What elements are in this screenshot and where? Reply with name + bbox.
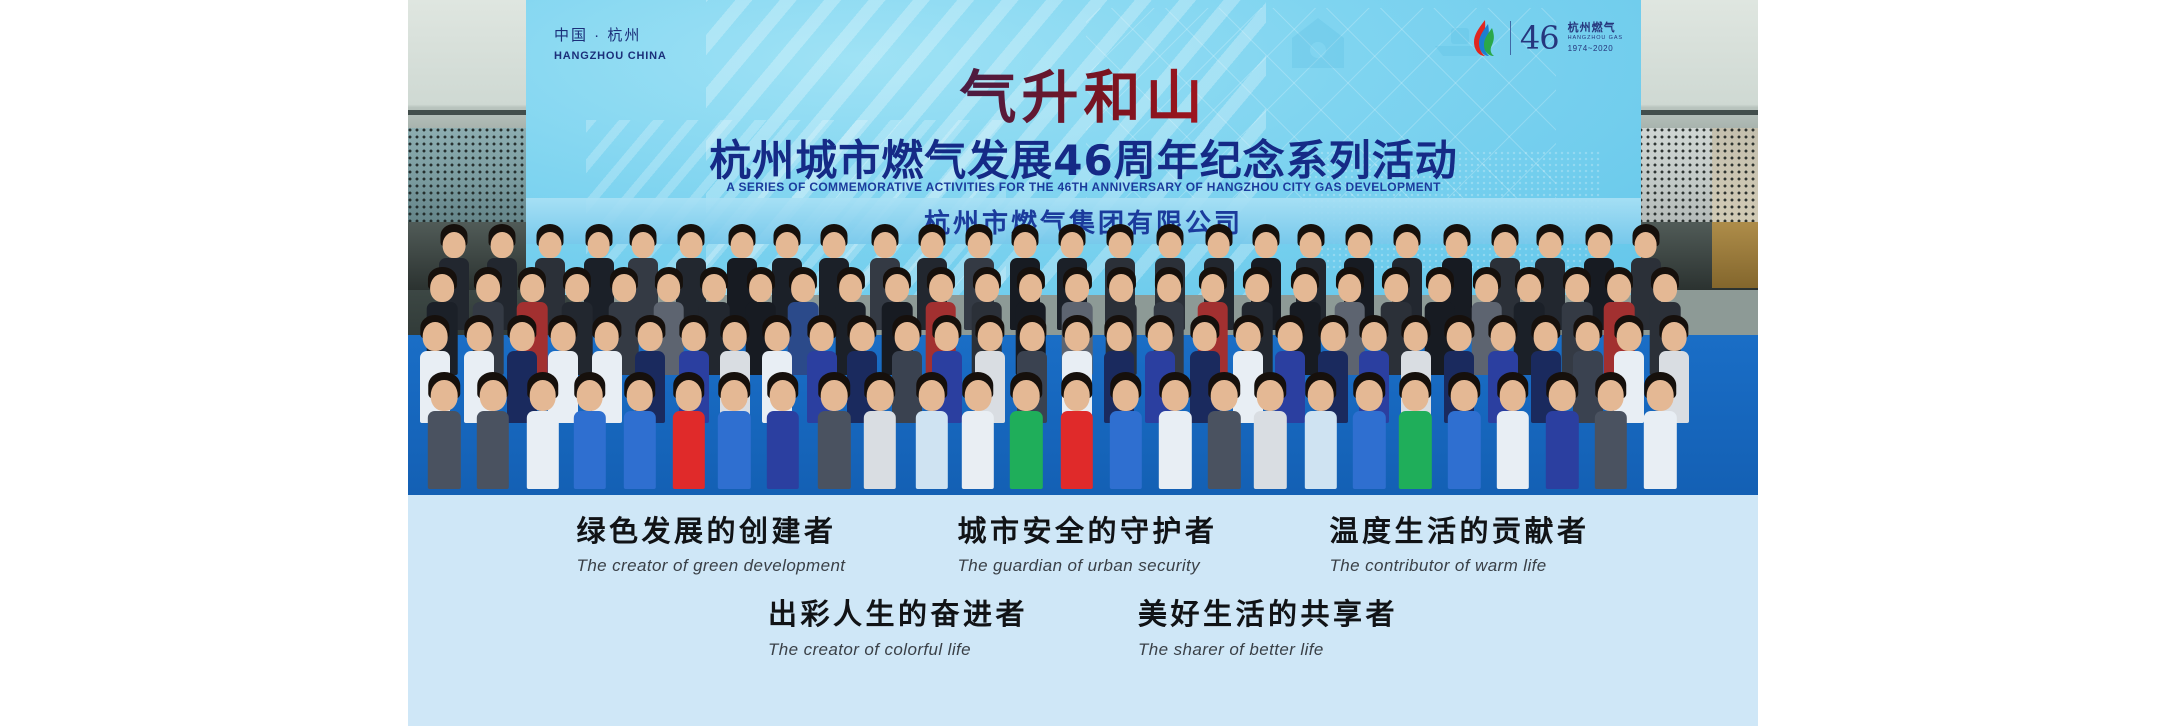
head	[722, 322, 747, 351]
slogan-en: The contributor of warm life	[1329, 556, 1589, 576]
head	[1499, 380, 1526, 411]
head	[1647, 380, 1674, 411]
group-photo: 中国 · 杭州 HANGZHOU CHINA 46 杭州燃气 HANGZHOU …	[408, 0, 1758, 495]
head	[565, 274, 589, 302]
head	[612, 274, 636, 302]
slogan-item: 绿色发展的创建者 The creator of green developmen…	[577, 515, 846, 576]
slogan-cn: 城市安全的守护者	[957, 515, 1217, 548]
head	[1201, 274, 1225, 302]
head	[1447, 322, 1472, 351]
logo-divider	[1510, 21, 1511, 55]
head	[1384, 274, 1408, 302]
head	[1065, 322, 1090, 351]
head	[1293, 274, 1317, 302]
logo-text-block: 杭州燃气 HANGZHOU GAS 1974~2020	[1568, 22, 1623, 55]
head	[1356, 380, 1383, 411]
torso	[673, 411, 705, 489]
head	[978, 322, 1003, 351]
torso	[527, 411, 559, 489]
head	[1278, 322, 1303, 351]
head	[1597, 380, 1624, 411]
torso	[1594, 411, 1626, 489]
head	[850, 322, 875, 351]
slogan-item: 城市安全的守护者 The guardian of urban security	[957, 515, 1217, 576]
head	[1061, 232, 1084, 258]
head	[1192, 322, 1217, 351]
head	[895, 322, 920, 351]
head	[1066, 274, 1090, 302]
head	[626, 380, 653, 411]
head	[1491, 322, 1516, 351]
torso	[1546, 411, 1578, 489]
head	[929, 274, 953, 302]
head	[702, 274, 726, 302]
head	[1148, 322, 1173, 351]
head	[443, 232, 466, 258]
head	[965, 380, 992, 411]
head	[431, 274, 455, 302]
head	[975, 274, 999, 302]
head	[1255, 232, 1278, 258]
slogan-cn: 绿色发展的创建者	[577, 515, 846, 548]
slogan-row-1: 绿色发展的创建者 The creator of green developmen…	[408, 495, 1758, 576]
head	[1662, 322, 1687, 351]
head	[632, 232, 655, 258]
head	[1307, 380, 1334, 411]
head	[776, 232, 799, 258]
torso	[1399, 411, 1431, 489]
poster-page: 中国 · 杭州 HANGZHOU CHINA 46 杭州燃气 HANGZHOU …	[0, 0, 2179, 726]
head	[934, 322, 959, 351]
head	[1207, 232, 1230, 258]
head	[1109, 232, 1132, 258]
crowd-of-people: {}	[408, 170, 1758, 495]
head	[1211, 380, 1238, 411]
head	[749, 274, 773, 302]
torso	[1159, 411, 1191, 489]
head	[1518, 274, 1542, 302]
torso	[1353, 411, 1385, 489]
head	[1538, 232, 1561, 258]
head	[1403, 322, 1428, 351]
location-cn: 中国 · 杭州	[554, 24, 667, 45]
head	[476, 274, 500, 302]
head	[874, 232, 897, 258]
torso	[864, 411, 896, 489]
logo-company-en: HANGZHOU GAS	[1568, 35, 1623, 42]
slogan-item: 美好生活的共享者 The sharer of better life	[1138, 598, 1398, 659]
head	[576, 380, 603, 411]
head	[1338, 274, 1362, 302]
slogan-cn: 出彩人生的奋进者	[768, 598, 1028, 631]
torso	[1496, 411, 1528, 489]
slogan-row-2: 出彩人生的奋进者 The creator of colorful life 美好…	[408, 576, 1758, 659]
head	[657, 274, 681, 302]
head	[676, 380, 703, 411]
head	[681, 322, 706, 351]
anniversary-number: 46	[1520, 22, 1559, 54]
head	[920, 232, 943, 258]
head	[791, 274, 815, 302]
head	[1575, 322, 1600, 351]
head	[539, 232, 562, 258]
torso	[1061, 411, 1093, 489]
head	[1321, 322, 1346, 351]
head	[551, 322, 576, 351]
head	[1347, 232, 1370, 258]
head	[1451, 380, 1478, 411]
head	[1236, 322, 1261, 351]
head	[1162, 380, 1189, 411]
torso	[573, 411, 605, 489]
torso	[1254, 411, 1286, 489]
head	[1020, 322, 1045, 351]
head	[1110, 274, 1134, 302]
head	[1428, 274, 1452, 302]
head	[765, 322, 790, 351]
head	[1445, 232, 1468, 258]
torso	[1010, 411, 1042, 489]
torso	[1448, 411, 1480, 489]
head	[770, 380, 797, 411]
head	[1112, 380, 1139, 411]
head	[490, 232, 513, 258]
head	[638, 322, 663, 351]
torso	[1644, 411, 1676, 489]
slogan-item: 温度生活的贡献者 The contributor of warm life	[1329, 515, 1589, 576]
slogan-cn: 温度生活的贡献者	[1329, 515, 1589, 548]
head	[731, 232, 754, 258]
torso	[1208, 411, 1240, 489]
slogan-en: The creator of colorful life	[768, 640, 1028, 660]
torso	[623, 411, 655, 489]
torso	[916, 411, 948, 489]
slogan-en: The creator of green development	[577, 556, 846, 576]
head	[809, 322, 834, 351]
torso	[818, 411, 850, 489]
artistic-title: 气升和山	[526, 52, 1641, 134]
head	[1014, 232, 1037, 258]
head	[530, 380, 557, 411]
head	[1257, 380, 1284, 411]
head	[1533, 322, 1558, 351]
head	[1064, 380, 1091, 411]
head	[1299, 232, 1322, 258]
head	[680, 232, 703, 258]
head	[1019, 274, 1043, 302]
slogan-cn: 美好生活的共享者	[1138, 598, 1398, 631]
head	[821, 380, 848, 411]
head	[1396, 232, 1419, 258]
head	[885, 274, 909, 302]
head	[721, 380, 748, 411]
head	[1402, 380, 1429, 411]
head	[594, 322, 619, 351]
slogan-panel: 绿色发展的创建者 The creator of green developmen…	[408, 495, 1758, 726]
head	[1588, 232, 1611, 258]
head	[1493, 232, 1516, 258]
head	[968, 232, 991, 258]
head	[867, 380, 894, 411]
head	[1157, 274, 1181, 302]
slogan-en: The sharer of better life	[1138, 640, 1398, 660]
head	[1549, 380, 1576, 411]
torso	[1304, 411, 1336, 489]
torso	[962, 411, 994, 489]
slogan-item: 出彩人生的奋进者 The creator of colorful life	[768, 598, 1028, 659]
head	[1607, 274, 1631, 302]
torso	[718, 411, 750, 489]
head	[1634, 232, 1657, 258]
head	[1653, 274, 1677, 302]
head	[587, 232, 610, 258]
torso	[428, 411, 460, 489]
torso	[1110, 411, 1142, 489]
head	[520, 274, 544, 302]
head	[1475, 274, 1499, 302]
head	[1013, 380, 1040, 411]
logo-company-cn: 杭州燃气	[1568, 22, 1623, 36]
torso	[767, 411, 799, 489]
head	[510, 322, 535, 351]
head	[1362, 322, 1387, 351]
head	[1159, 232, 1182, 258]
poster-column: 中国 · 杭州 HANGZHOU CHINA 46 杭州燃气 HANGZHOU …	[408, 0, 1758, 726]
head	[1246, 274, 1270, 302]
head	[919, 380, 946, 411]
head	[1565, 274, 1589, 302]
head	[1617, 322, 1642, 351]
head	[822, 232, 845, 258]
head	[839, 274, 863, 302]
head	[467, 322, 492, 351]
head	[480, 380, 507, 411]
head	[1107, 322, 1132, 351]
head	[423, 322, 448, 351]
slogan-en: The guardian of urban security	[957, 556, 1217, 576]
head	[431, 380, 458, 411]
torso	[477, 411, 509, 489]
